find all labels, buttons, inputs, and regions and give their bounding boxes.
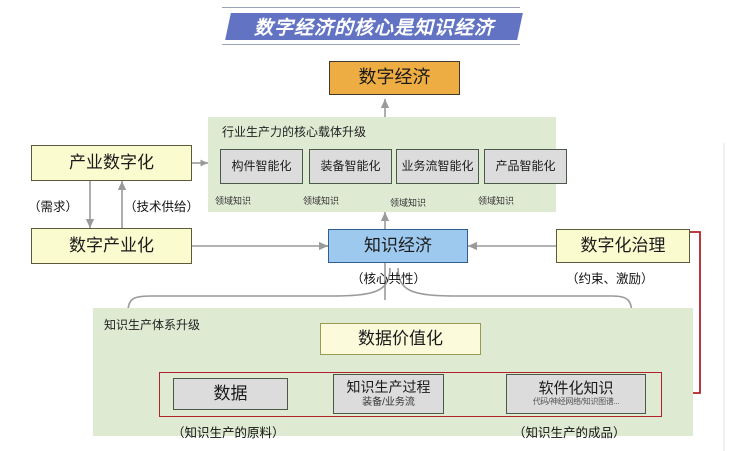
node-softwareized-knowledge[interactable]: 软件化知识 代码/神经网络/知识图谱...	[506, 374, 646, 414]
node-softwareized-knowledge-label: 软件化知识	[538, 381, 613, 398]
domain-knowledge-label-3: 领域知识	[390, 196, 426, 209]
node-digital-industrialization[interactable]: 数字产业化	[31, 228, 192, 264]
node-data[interactable]: 数据	[173, 378, 288, 410]
node-data-valorization[interactable]: 数据价值化	[320, 323, 481, 355]
diagram-canvas: 数字经济的核心是知识经济	[0, 0, 741, 451]
node-digital-economy[interactable]: 数字经济	[329, 61, 460, 95]
node-knowledge-production-process[interactable]: 知识生产过程 装备/业务流	[333, 374, 444, 414]
annotation-demand: （需求）	[28, 196, 78, 215]
capability-box-2-label: 装备智能化	[320, 160, 380, 173]
bottom-panel-label: 知识生产体系升级	[104, 316, 200, 333]
node-digital-governance[interactable]: 数字化治理	[556, 229, 690, 263]
domain-knowledge-label-4: 领域知识	[478, 194, 514, 207]
page-title: 数字经济的核心是知识经济	[254, 13, 494, 40]
capability-box-3[interactable]: 业务流智能化	[396, 149, 479, 184]
title-rule-bottom	[222, 44, 520, 45]
annotation-constraint-incentive: （约束、激励）	[566, 268, 654, 287]
capability-box-2[interactable]: 装备智能化	[309, 149, 392, 184]
capability-box-4-label: 产品智能化	[495, 160, 555, 173]
capability-box-3-label: 业务流智能化	[401, 160, 473, 173]
annotation-core-commonality: （核心共性）	[351, 268, 426, 287]
domain-knowledge-label-1: 领域知识	[215, 194, 251, 207]
node-knowledge-economy[interactable]: 知识经济	[328, 229, 468, 263]
node-knowledge-economy-label: 知识经济	[364, 237, 432, 256]
capability-box-1[interactable]: 构件智能化	[220, 149, 303, 184]
capability-box-4[interactable]: 产品智能化	[484, 149, 567, 184]
node-data-label: 数据	[214, 385, 248, 404]
node-digital-industrialization-label: 数字产业化	[69, 237, 154, 256]
title-banner: 数字经济的核心是知识经济	[225, 13, 523, 40]
annotation-raw-material: （知识生产的原料）	[172, 422, 285, 441]
node-data-valorization-label: 数据价值化	[358, 330, 443, 349]
node-industry-digitalization[interactable]: 产业数字化	[31, 145, 192, 181]
node-softwareized-knowledge-sublabel: 代码/神经网络/知识图谱...	[533, 398, 620, 407]
node-digital-governance-label: 数字化治理	[581, 237, 666, 256]
node-knowledge-production-process-label: 知识生产过程	[347, 380, 431, 395]
annotation-finished-product: （知识生产的成品）	[513, 422, 626, 441]
annotation-tech-supply: （技术供给）	[124, 196, 199, 215]
title-rule-top	[222, 7, 520, 8]
domain-knowledge-label-2: 领域知识	[303, 194, 339, 207]
capability-box-1-label: 构件智能化	[231, 160, 291, 173]
node-digital-economy-label: 数字经济	[359, 68, 431, 88]
top-panel-label: 行业生产力的核心载体升级	[222, 123, 366, 140]
node-industry-digitalization-label: 产业数字化	[69, 154, 154, 173]
node-knowledge-production-process-sublabel: 装备/业务流	[362, 397, 415, 408]
